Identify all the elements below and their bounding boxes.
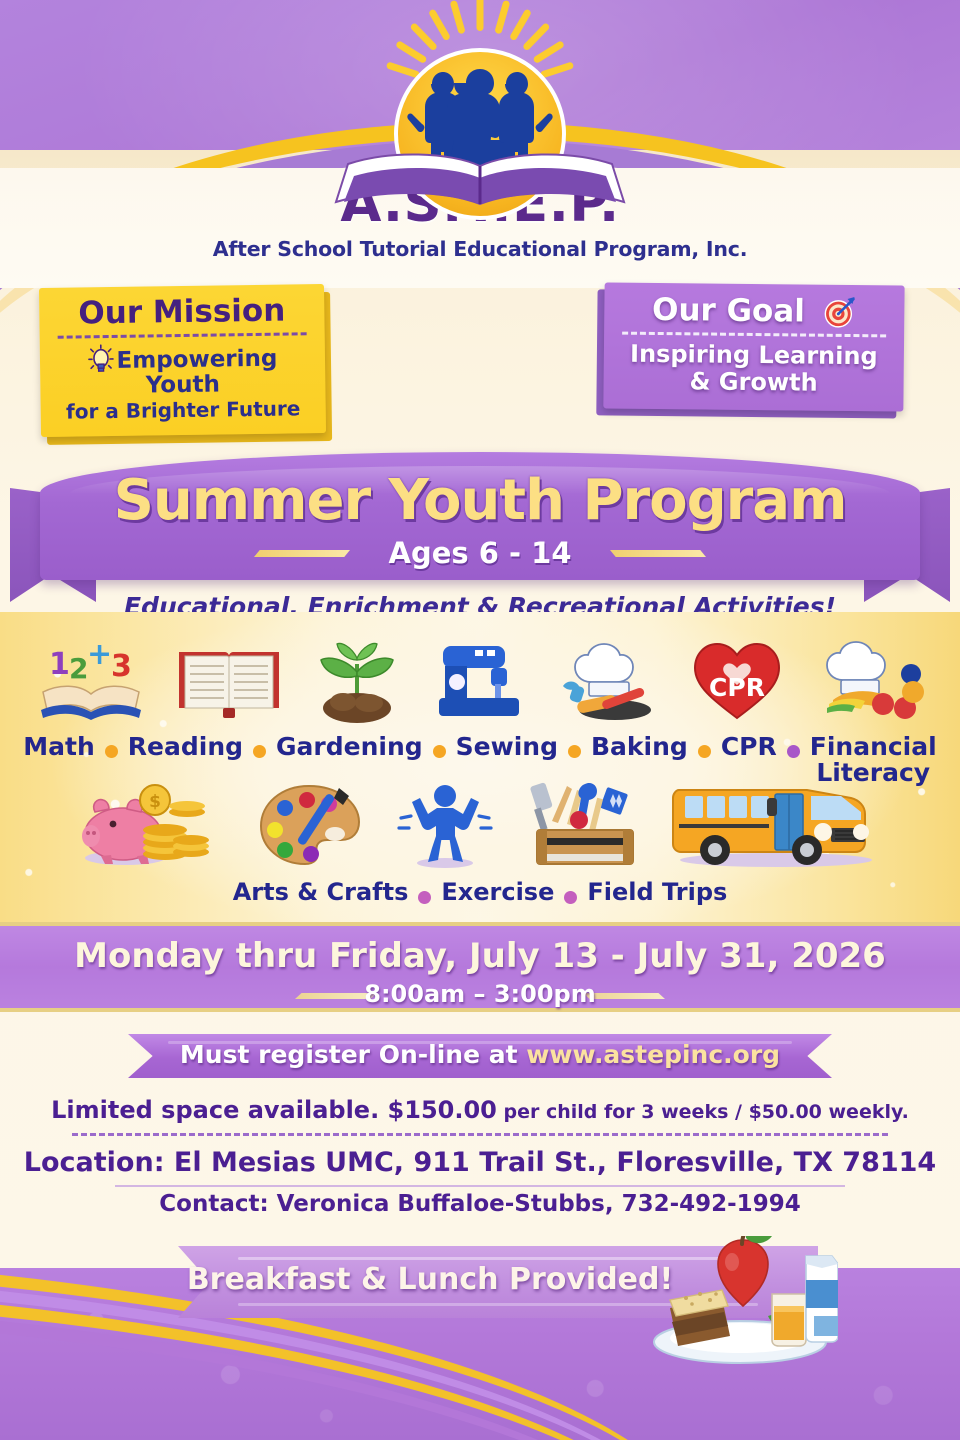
bullet-dot-icon: [418, 891, 431, 904]
svg-text:3: 3: [111, 649, 132, 684]
pricing-lead: Limited space available.: [51, 1096, 387, 1124]
schedule-dates: Monday thru Friday, July 13 - July 31, 2…: [0, 936, 960, 976]
sun-children-book-icon: [315, 22, 645, 167]
svg-text:$: $: [149, 792, 161, 812]
dashed-divider: [72, 1133, 888, 1136]
registration-prefix: Must register On-line at: [180, 1040, 526, 1069]
pricing-mid: per child for 3 weeks /: [497, 1101, 749, 1123]
bullet-dot-icon: [787, 745, 800, 758]
activity-label-math: Math: [23, 734, 95, 760]
goal-heading: Our Goal: [652, 292, 805, 330]
program-ages: Ages 6 - 14: [0, 536, 960, 570]
activity-labels-row-2: Arts & Crafts Exercise Field Trips: [0, 880, 960, 904]
activity-icons-row-2: $: [0, 778, 960, 868]
chef-hat-produce-icon: [813, 638, 925, 724]
goal-line2: & Growth: [619, 367, 887, 397]
activity-label-exercise: Exercise: [441, 880, 554, 904]
activity-label-baking: Baking: [591, 734, 688, 760]
schedule-time: 8:00am – 3:00pm: [0, 980, 960, 1008]
astep-subtitle: After School Tutorial Educational Progra…: [0, 237, 960, 261]
pricing-tail: weekly.: [822, 1101, 909, 1123]
goal-line1: Inspiring Learning: [620, 341, 888, 371]
exercising-figure-icon: [393, 782, 497, 868]
pricing-text: Limited space available. $150.00 per chi…: [0, 1096, 960, 1124]
contact-text: Contact: Veronica Buffaloe-Stubbs, 732-4…: [0, 1191, 960, 1217]
activity-label-field-trips: Field Trips: [587, 880, 727, 904]
bullet-dot-icon: [105, 745, 118, 758]
mission-line1: Empowering Youth: [116, 345, 277, 399]
bullet-dot-icon: [564, 891, 577, 904]
target-with-arrow-icon: [822, 295, 856, 329]
svg-text:+: +: [87, 640, 112, 672]
mission-line2: for a Brighter Future: [57, 397, 310, 423]
pricing-amount-weekly: $50.00: [749, 1101, 822, 1123]
svg-text:CPR: CPR: [709, 673, 765, 702]
activity-label-gardening: Gardening: [276, 734, 423, 760]
poster-canvas: A.S.T.E.P. After School Tutorial Educati…: [0, 0, 960, 1440]
mission-divider: [58, 332, 307, 338]
registration-text: Must register On-line at www.astepinc.or…: [0, 1040, 960, 1069]
activity-label-sewing: Sewing: [456, 734, 558, 760]
activity-label-arts-crafts: Arts & Crafts: [233, 880, 409, 904]
goal-divider: [622, 332, 886, 338]
registration-url[interactable]: www.astepinc.org: [526, 1040, 780, 1069]
pricing-amount-main: $150.00: [388, 1096, 497, 1124]
craft-supplies-crate-icon: [523, 780, 645, 868]
program-title-ribbon: Summer Youth Program Ages 6 - 14: [0, 452, 960, 612]
piggy-bank-coins-icon: $: [79, 782, 229, 868]
svg-text:1: 1: [49, 647, 70, 682]
chef-hat-rolling-pin-icon: [555, 638, 661, 724]
svg-text:2: 2: [69, 652, 88, 685]
cpr-heart-icon: CPR: [689, 638, 785, 724]
sewing-machine-icon: [431, 636, 527, 724]
mission-badge: Our Mission Empowering Youth: [39, 284, 326, 437]
open-book-icon: [330, 150, 630, 212]
bullet-dot-icon: [698, 745, 711, 758]
mission-heading: Our Mission: [55, 294, 308, 330]
thin-divider: [115, 1185, 845, 1187]
lightbulb-icon: [87, 344, 113, 374]
logo-block: A.S.T.E.P. After School Tutorial Educati…: [0, 22, 960, 261]
paint-palette-icon: [255, 782, 367, 868]
activity-label-reading: Reading: [128, 734, 243, 760]
school-bus-icon: [671, 774, 881, 868]
seedling-soil-icon: [311, 638, 403, 724]
bullet-dot-icon: [253, 745, 266, 758]
numbers-book-icon: 1 2 + 3: [35, 640, 147, 724]
meals-text: Breakfast & Lunch Provided!: [150, 1262, 710, 1297]
plate-with-sandwich-apple-juice-milk-icon: [648, 1236, 838, 1366]
bullet-dot-icon: [568, 745, 581, 758]
activity-label-cpr: CPR: [721, 734, 777, 760]
goal-badge: Our Goal Inspiring Learning & Growth: [603, 282, 904, 411]
location-text: Location: El Mesias UMC, 911 Trail St., …: [0, 1147, 960, 1178]
program-title: Summer Youth Program: [0, 468, 960, 533]
bullet-dot-icon: [433, 745, 446, 758]
open-book-icon: [175, 642, 283, 724]
activity-icons-row-1: 1 2 + 3: [0, 632, 960, 724]
